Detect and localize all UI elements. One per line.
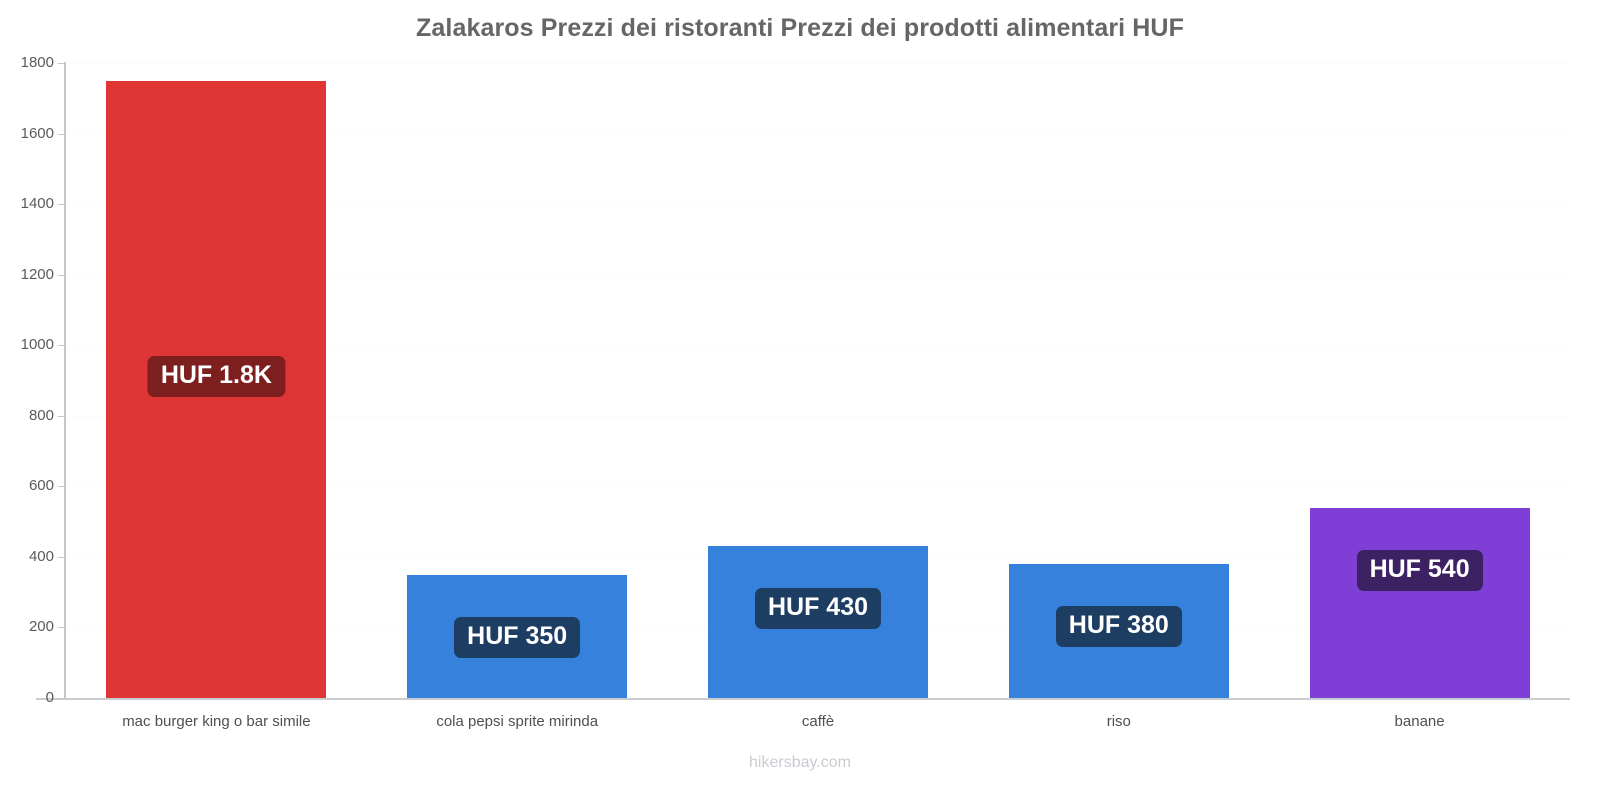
bar-value-label: HUF 430 — [755, 588, 881, 629]
bar-value-label: HUF 350 — [454, 617, 580, 658]
bar-value-label: HUF 380 — [1056, 606, 1182, 647]
footer-credit: hikersbay.com — [0, 754, 1600, 772]
x-tick-label: caffè — [668, 713, 969, 730]
y-tick-mark — [58, 134, 66, 135]
y-tick-mark — [58, 204, 66, 205]
y-tick-label: 800 — [29, 408, 54, 423]
y-tick-mark — [58, 627, 66, 628]
bar-chart: Zalakaros Prezzi dei ristoranti Prezzi d… — [0, 0, 1600, 800]
y-tick-mark — [58, 698, 66, 699]
y-tick-label: 0 — [46, 690, 54, 705]
y-tick-mark — [58, 557, 66, 558]
bar-value-label: HUF 1.8K — [148, 356, 285, 397]
y-tick-label: 1000 — [21, 337, 54, 352]
x-tick-label: riso — [968, 713, 1269, 730]
bar[interactable]: HUF 430 — [708, 546, 928, 698]
y-tick-mark — [58, 63, 66, 64]
chart-title: Zalakaros Prezzi dei ristoranti Prezzi d… — [0, 14, 1600, 43]
y-tick-label: 1200 — [21, 267, 54, 282]
y-tick-mark — [58, 416, 66, 417]
y-tick-label: 1400 — [21, 196, 54, 211]
y-tick-label: 200 — [29, 619, 54, 634]
y-tick-mark — [58, 345, 66, 346]
bar-value-label: HUF 540 — [1357, 550, 1483, 591]
gridline — [66, 63, 1570, 64]
x-tick-label: mac burger king o bar simile — [66, 713, 367, 730]
x-tick-label: cola pepsi sprite mirinda — [367, 713, 668, 730]
x-axis-line — [36, 698, 1570, 700]
bar[interactable]: HUF 1.8K — [106, 81, 326, 698]
y-tick-mark — [58, 486, 66, 487]
y-tick-label: 1600 — [21, 126, 54, 141]
bar[interactable]: HUF 350 — [407, 575, 627, 698]
y-tick-mark — [58, 275, 66, 276]
x-tick-label: banane — [1269, 713, 1570, 730]
bar[interactable]: HUF 540 — [1310, 508, 1530, 699]
y-tick-label: 1800 — [21, 55, 54, 70]
y-tick-label: 600 — [29, 478, 54, 493]
bar[interactable]: HUF 380 — [1009, 564, 1229, 698]
y-tick-label: 400 — [29, 549, 54, 564]
